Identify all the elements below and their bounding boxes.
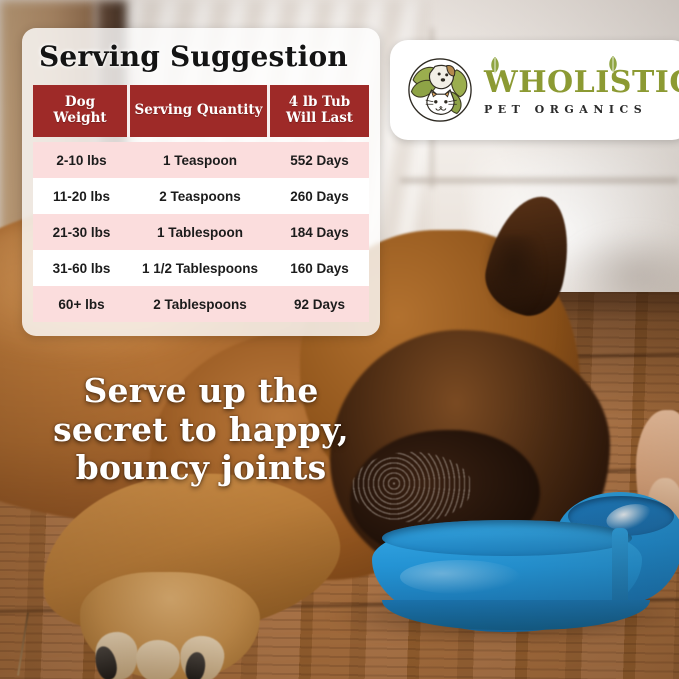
- table-row: 11-20 lbs 2 Teaspoons 260 Days: [33, 178, 369, 214]
- tagline-line-3: bouncy joints: [46, 449, 356, 488]
- dog-whiskers: [352, 452, 472, 522]
- cell-serving-quantity: 1 Teaspoon: [130, 142, 270, 178]
- cell-dog-weight: 31-60 lbs: [33, 250, 130, 286]
- tagline-line-1: Serve up the: [46, 372, 356, 411]
- cell-dog-weight: 60+ lbs: [33, 286, 130, 322]
- tagline-line-2: secret to happy,: [46, 411, 356, 450]
- cell-tub-duration: 92 Days: [270, 286, 369, 322]
- leaf-icon: [606, 55, 620, 75]
- header-line: 4 lb Tub: [289, 94, 350, 110]
- product-lifestyle-image: Serving Suggestion Dog Weight Serving Qu…: [0, 0, 679, 679]
- brand-name: WHOLISTIC®: [484, 68, 679, 98]
- marketing-tagline: Serve up the secret to happy, bouncy joi…: [46, 372, 356, 488]
- serving-suggestion-card: Serving Suggestion Dog Weight Serving Qu…: [22, 28, 380, 336]
- logo-wordmark: WHOLISTIC® PET ORGANICS: [484, 64, 679, 116]
- serving-suggestion-table: Dog Weight Serving Quantity 4 lb Tub Wil…: [33, 85, 369, 322]
- cell-tub-duration: 160 Days: [270, 250, 369, 286]
- brand-tagline: PET ORGANICS: [484, 103, 679, 116]
- cell-dog-weight: 11-20 lbs: [33, 178, 130, 214]
- table-header-row: Dog Weight Serving Quantity 4 lb Tub Wil…: [33, 85, 369, 137]
- cell-serving-quantity: 2 Tablespoons: [130, 286, 270, 322]
- column-header-serving-quantity: Serving Quantity: [130, 85, 270, 137]
- cell-serving-quantity: 1 Tablespoon: [130, 214, 270, 250]
- header-line: Will Last: [286, 110, 353, 126]
- table-head: Dog Weight Serving Quantity 4 lb Tub Wil…: [33, 85, 369, 142]
- table-row: 31-60 lbs 1 1/2 Tablespoons 160 Days: [33, 250, 369, 286]
- dog-toe: [136, 640, 180, 679]
- brand-logo-card: WHOLISTIC® PET ORGANICS: [390, 40, 679, 140]
- cell-serving-quantity: 2 Teaspoons: [130, 178, 270, 214]
- cell-tub-duration: 260 Days: [270, 178, 369, 214]
- wall-horizontal-line: [400, 178, 679, 183]
- dog-ear-shadow: [484, 236, 544, 316]
- header-line: Serving Quantity: [135, 102, 263, 118]
- cell-dog-weight: 2-10 lbs: [33, 142, 130, 178]
- column-header-tub-duration: 4 lb Tub Will Last: [270, 85, 369, 137]
- dog-cat-leaf-circle-icon: [398, 48, 482, 132]
- cell-tub-duration: 184 Days: [270, 214, 369, 250]
- leaf-icon: [488, 56, 502, 76]
- table-row: 2-10 lbs 1 Teaspoon 552 Days: [33, 142, 369, 178]
- cell-serving-quantity: 1 1/2 Tablespoons: [130, 250, 270, 286]
- bowl-divider: [612, 528, 628, 608]
- cell-dog-weight: 21-30 lbs: [33, 214, 130, 250]
- cell-tub-duration: 552 Days: [270, 142, 369, 178]
- bowl-left-highlight: [400, 560, 520, 594]
- table-row: 60+ lbs 2 Tablespoons 92 Days: [33, 286, 369, 322]
- brand-name-text: WHOLISTIC: [484, 65, 679, 100]
- table-body: 2-10 lbs 1 Teaspoon 552 Days 11-20 lbs 2…: [33, 142, 369, 322]
- table-row: 21-30 lbs 1 Tablespoon 184 Days: [33, 214, 369, 250]
- page-title: Serving Suggestion: [33, 40, 369, 73]
- column-header-dog-weight: Dog Weight: [33, 85, 130, 137]
- header-line: Weight: [53, 110, 106, 126]
- header-line: Dog: [65, 94, 95, 110]
- bowl-left-rim: [382, 520, 632, 556]
